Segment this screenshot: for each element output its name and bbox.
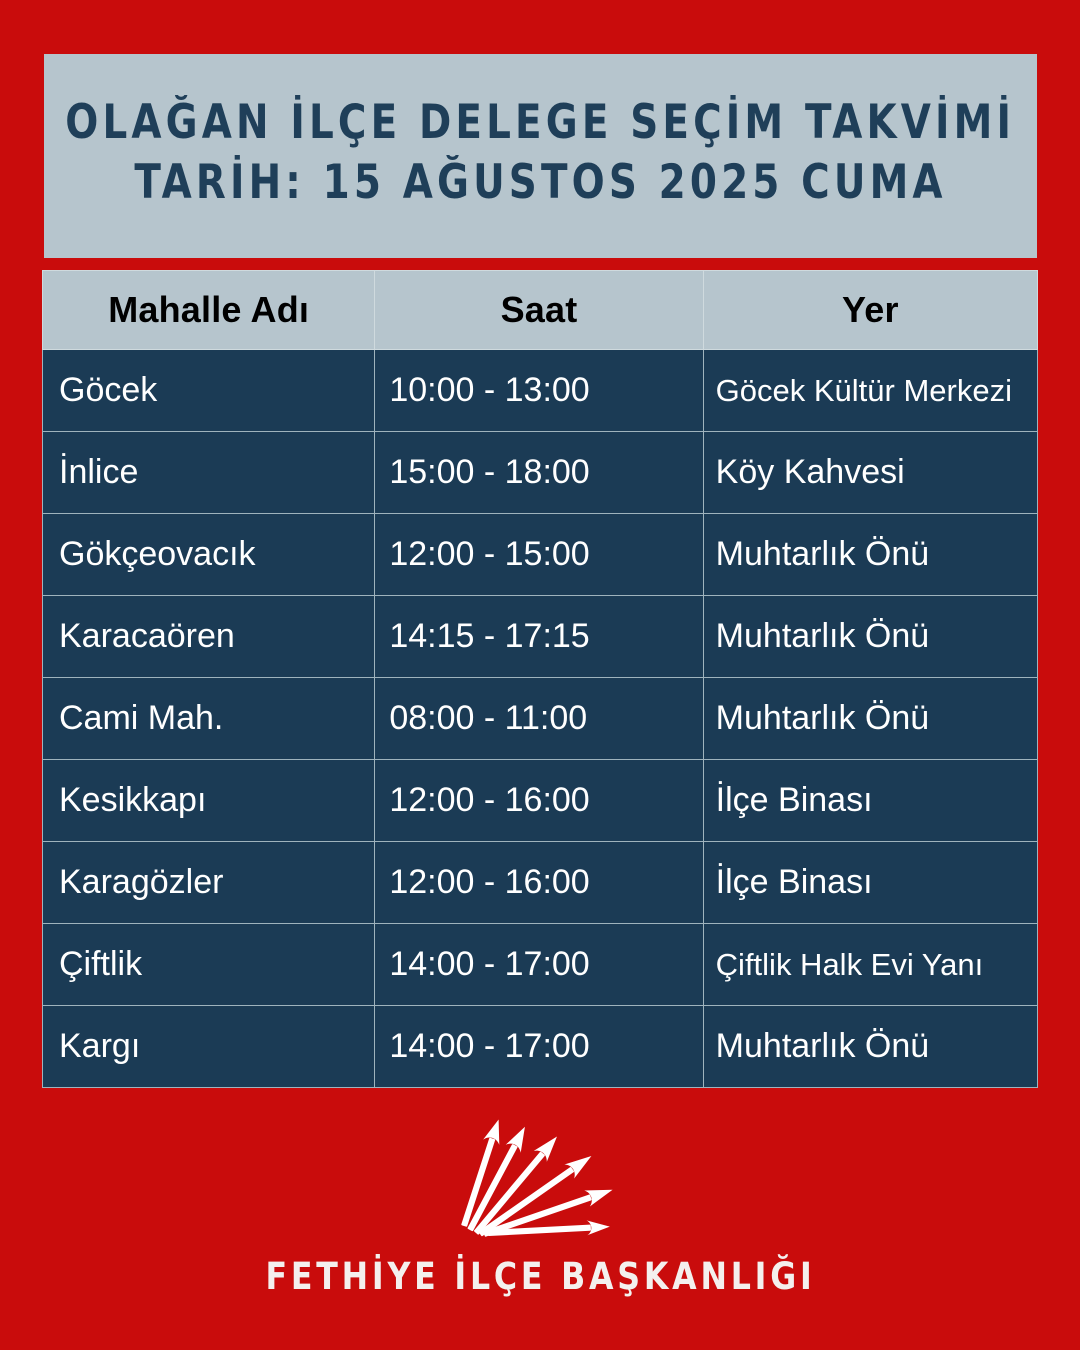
table-header-row: Mahalle Adı Saat Yer [43,271,1038,350]
cell-saat: 08:00 - 11:00 [375,678,703,760]
table-row: Karagözler12:00 - 16:00İlçe Binası [43,842,1038,924]
schedule-table: Mahalle Adı Saat Yer Göcek10:00 - 13:00G… [42,270,1038,1088]
table-row: Cami Mah.08:00 - 11:00Muhtarlık Önü [43,678,1038,760]
table-row: Karacaören14:15 - 17:15Muhtarlık Önü [43,596,1038,678]
cell-yer: İlçe Binası [703,760,1037,842]
cell-yer: Muhtarlık Önü [703,514,1037,596]
table-row: Çiftlik14:00 - 17:00Çiftlik Halk Evi Yan… [43,924,1038,1006]
cell-yer: Göcek Kültür Merkezi [703,350,1037,432]
cell-mahalle: Göcek [43,350,375,432]
cell-mahalle: Kargı [43,1006,375,1088]
column-header-yer: Yer [703,271,1037,350]
cell-yer: Çiftlik Halk Evi Yanı [703,924,1037,1006]
cell-saat: 12:00 - 15:00 [375,514,703,596]
cell-saat: 12:00 - 16:00 [375,842,703,924]
cell-yer: Muhtarlık Önü [703,596,1037,678]
cell-yer: Muhtarlık Önü [703,678,1037,760]
organization-name: FETHİYE İLÇE BAŞKANLIĞI [265,1255,815,1298]
cell-yer: Köy Kahvesi [703,432,1037,514]
cell-yer: İlçe Binası [703,842,1037,924]
cell-mahalle: Kesikkapı [43,760,375,842]
schedule-table-container: Mahalle Adı Saat Yer Göcek10:00 - 13:00G… [42,270,1038,1082]
cell-saat: 14:00 - 17:00 [375,924,703,1006]
cell-yer: Muhtarlık Önü [703,1006,1037,1088]
title-panel: OLAĞAN İLÇE DELEGE SEÇİM TAKVİMİ TARİH: … [44,54,1037,258]
column-header-saat: Saat [375,271,703,350]
page-title-line-1: OLAĞAN İLÇE DELEGE SEÇİM TAKVİMİ [66,93,1016,153]
column-header-mahalle: Mahalle Adı [43,271,375,350]
poster-root: OLAĞAN İLÇE DELEGE SEÇİM TAKVİMİ TARİH: … [0,0,1080,1350]
cell-mahalle: Gökçeovacık [43,514,375,596]
cell-mahalle: Çiftlik [43,924,375,1006]
table-header: Mahalle Adı Saat Yer [43,271,1038,350]
footer-logo-block: FETHİYE İLÇE BAŞKANLIĞI [0,1104,1080,1298]
cell-saat: 12:00 - 16:00 [375,760,703,842]
cell-mahalle: İnlice [43,432,375,514]
cell-mahalle: Karacaören [43,596,375,678]
table-row: Kargı14:00 - 17:00Muhtarlık Önü [43,1006,1038,1088]
table-row: Kesikkapı12:00 - 16:00İlçe Binası [43,760,1038,842]
cell-saat: 10:00 - 13:00 [375,350,703,432]
six-arrows-icon [430,1104,650,1239]
table-body: Göcek10:00 - 13:00Göcek Kültür Merkeziİn… [43,350,1038,1088]
table-row: Gökçeovacık12:00 - 15:00Muhtarlık Önü [43,514,1038,596]
table-row: İnlice15:00 - 18:00Köy Kahvesi [43,432,1038,514]
cell-saat: 14:15 - 17:15 [375,596,703,678]
cell-mahalle: Cami Mah. [43,678,375,760]
cell-mahalle: Karagözler [43,842,375,924]
page-title-line-2: TARİH: 15 AĞUSTOS 2025 CUMA [134,153,946,213]
cell-saat: 14:00 - 17:00 [375,1006,703,1088]
cell-saat: 15:00 - 18:00 [375,432,703,514]
table-row: Göcek10:00 - 13:00Göcek Kültür Merkezi [43,350,1038,432]
